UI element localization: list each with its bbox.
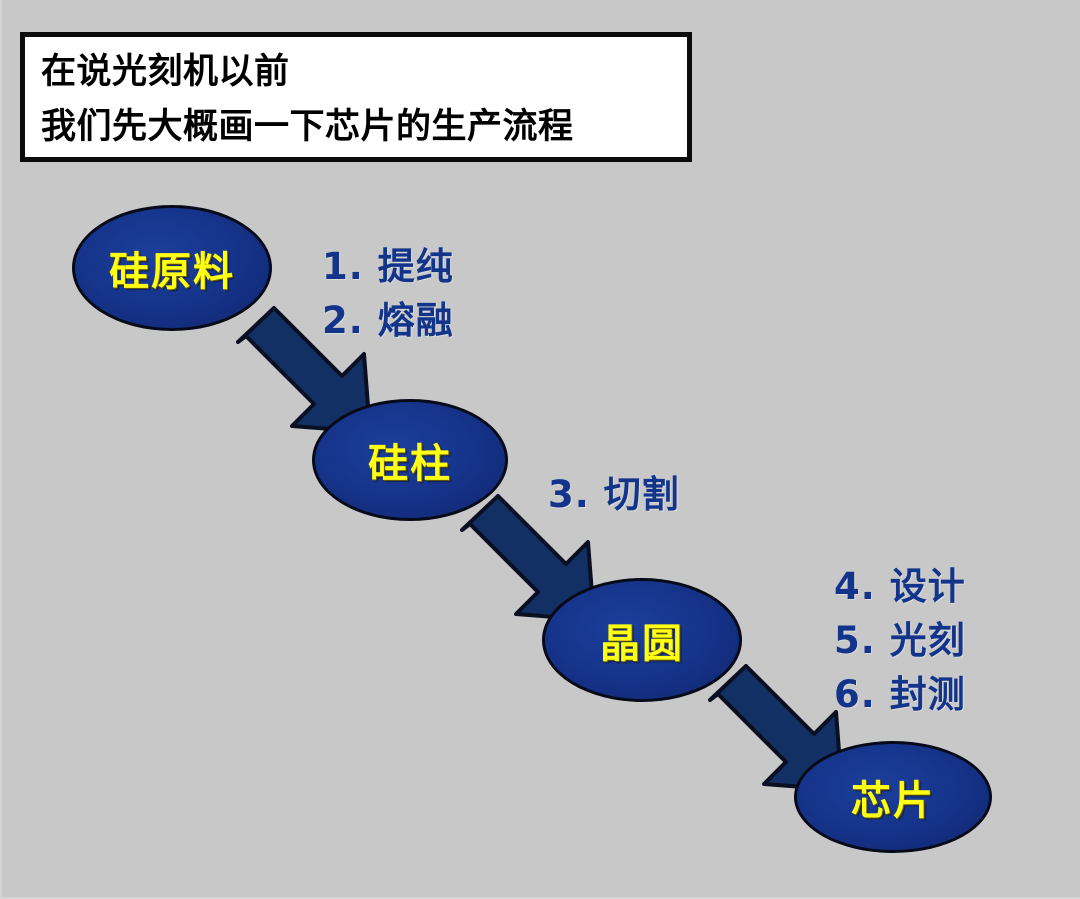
step-label-5: 光刻: [890, 619, 966, 662]
step-number-2: 2.: [322, 299, 364, 342]
node-label-raw-silicon: 硅原料: [109, 239, 235, 297]
node-silicon-ingot[interactable]: 硅柱: [312, 399, 508, 521]
step-number-5: 5.: [834, 619, 876, 662]
step-label-4: 设计: [890, 565, 966, 608]
title-box: 在说光刻机以前 我们先大概画一下芯片的生产流程: [20, 32, 692, 162]
step-number-4: 4.: [834, 565, 876, 608]
step-number-1: 1.: [322, 245, 364, 288]
step-item-5: 5. 光刻: [834, 614, 966, 668]
step-label-1: 提纯: [378, 245, 454, 288]
title-line-1: 在说光刻机以前: [41, 45, 687, 100]
flowchart-slide: 在说光刻机以前 我们先大概画一下芯片的生产流程 硅原料 硅柱 晶圆 芯片 1. …: [0, 0, 1080, 899]
step-number-6: 6.: [834, 673, 876, 716]
node-chip[interactable]: 芯片: [794, 741, 992, 853]
step-group-design-litho-package: 4. 设计 5. 光刻 6. 封测: [834, 560, 966, 722]
step-number-3: 3.: [548, 473, 590, 516]
step-group-purify-melt: 1. 提纯 2. 熔融: [322, 240, 454, 348]
step-item-2: 2. 熔融: [322, 294, 454, 348]
node-wafer[interactable]: 晶圆: [542, 578, 742, 702]
step-label-3: 切割: [604, 473, 680, 516]
title-line-2: 我们先大概画一下芯片的生产流程: [41, 100, 687, 155]
node-label-chip: 芯片: [851, 768, 935, 826]
step-label-2: 熔融: [378, 299, 454, 342]
node-raw-silicon[interactable]: 硅原料: [72, 205, 272, 331]
step-group-cut: 3. 切割: [548, 468, 680, 522]
node-label-silicon-ingot: 硅柱: [368, 431, 452, 489]
node-label-wafer: 晶圆: [600, 611, 684, 669]
step-item-4: 4. 设计: [834, 560, 966, 614]
step-item-3: 3. 切割: [548, 468, 680, 522]
step-label-6: 封测: [890, 673, 966, 716]
step-item-1: 1. 提纯: [322, 240, 454, 294]
step-item-6: 6. 封测: [834, 668, 966, 722]
